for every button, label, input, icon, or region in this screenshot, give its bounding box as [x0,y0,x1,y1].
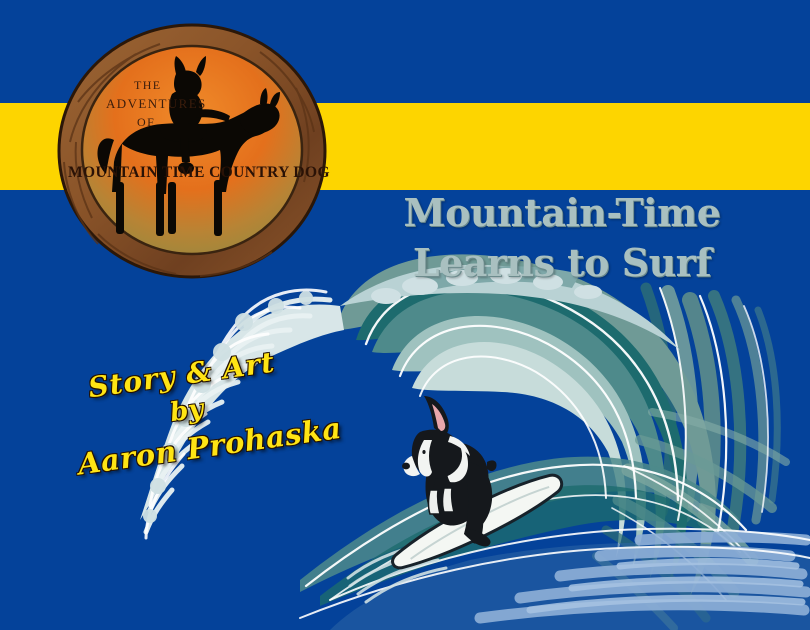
logo-badge-graphic [56,22,328,280]
book-title: Mountain-Time Learns to Surf [382,188,742,288]
series-logo-badge: THE ADVENTURES OF MOUNTAIN TIME COUNTRY … [56,22,328,280]
logo-series-line-2: ADVENTURES [106,96,207,112]
logo-series-line-1: THE [134,78,162,93]
title-line-1: Mountain-Time [382,188,742,238]
logo-banner-text: MOUNTAIN TIME COUNTRY DOG [68,164,318,182]
title-line-2: Learns to Surf [382,238,742,288]
logo-series-line-3: OF [137,115,155,130]
book-cover: THE ADVENTURES OF MOUNTAIN TIME COUNTRY … [0,0,810,630]
